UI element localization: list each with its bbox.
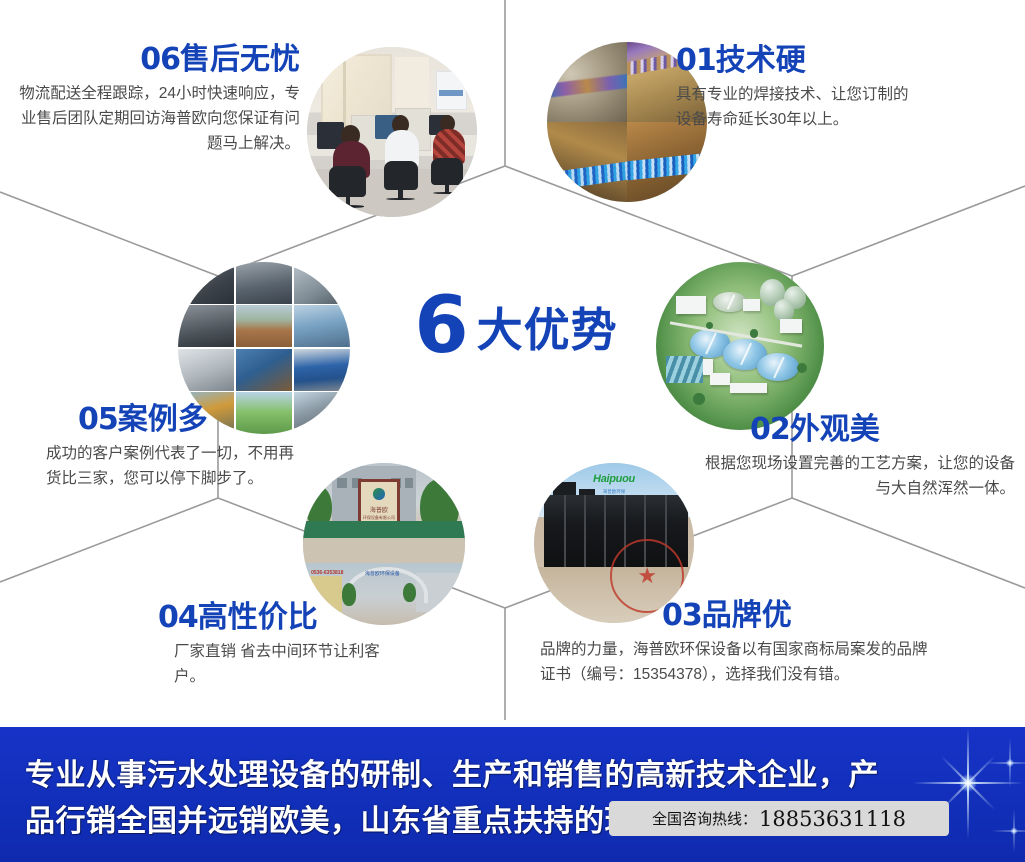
feature-05-heading: 05案例多 — [38, 404, 338, 436]
factory-sign-line1: 海普欧 — [361, 505, 397, 514]
feature-01-body: 具有专业的焊接技术、让您订制的设备寿命延长30年以上。 — [676, 82, 921, 132]
hex-spoke-lower-left — [0, 498, 218, 582]
infographic-root: 06售后无忧 物流配送全程跟踪，24小时快速响应，专业售后团队定期回访海普欧向您… — [0, 0, 1025, 862]
feature-02-body: 根据您现场设置完善的工艺方案，让您的设备与大自然浑然一体。 — [700, 451, 1015, 501]
hex-spoke-lower-right — [792, 498, 1025, 588]
feature-06-body: 物流配送全程跟踪，24小时快速响应，专业售后团队定期回访海普欧向您保证有问题马上… — [10, 81, 300, 156]
feature-05: 05案例多 成功的客户案例代表了一切，不用再货比三家，您可以停下脚步了。 — [38, 404, 338, 491]
photo-watermark: Haipuou — [593, 473, 635, 485]
feature-02-heading: 02外观美 — [700, 414, 1015, 446]
feature-03-heading: 03品牌优 — [540, 600, 940, 632]
feature-02: 02外观美 根据您现场设置完善的工艺方案，让您的设备与大自然浑然一体。 — [700, 414, 1015, 501]
center-number: 6 — [414, 293, 466, 360]
feature-photo-06 — [307, 47, 477, 217]
feature-01: 01技术硬 具有专业的焊接技术、让您订制的设备寿命延长30年以上。 — [676, 45, 996, 132]
center-text: 大优势 — [477, 294, 618, 360]
hotline-box[interactable]: 全国咨询热线：18853631118 — [609, 801, 949, 836]
feature-04-title: 高性价比 — [198, 601, 318, 634]
aerial-treatment-plant-photo — [656, 262, 824, 430]
feature-03: 03品牌优 品牌的力量，海普欧环保设备以有国家商标局案发的品牌证书（编号：153… — [540, 600, 940, 687]
feature-03-number: 03 — [662, 598, 702, 633]
factory-phone: 0536-6353818 — [311, 570, 343, 576]
photo-watermark-sub: 海普欧环保 — [603, 489, 626, 495]
feature-06: 06售后无忧 物流配送全程跟踪，24小时快速响应，专业售后团队定期回访海普欧向您… — [10, 44, 300, 156]
feature-04-heading: 04高性价比 — [130, 602, 460, 634]
feature-01-number: 01 — [676, 43, 716, 78]
gate-banner-text: 海普欧环保设备 — [348, 570, 416, 577]
feature-06-heading: 06售后无忧 — [10, 44, 300, 76]
hex-spoke-upper-right — [792, 186, 1025, 276]
feature-02-title: 外观美 — [790, 413, 880, 446]
feature-06-title: 售后无忧 — [180, 43, 300, 76]
hotline-label: 全国咨询热线： — [652, 808, 757, 829]
feature-06-number: 06 — [140, 42, 180, 77]
feature-05-number: 05 — [78, 402, 118, 437]
feature-03-body: 品牌的力量，海普欧环保设备以有国家商标局案发的品牌证书（编号：15354378）… — [540, 637, 940, 687]
feature-01-title: 技术硬 — [716, 44, 806, 77]
feature-01-heading: 01技术硬 — [676, 45, 996, 77]
center-label: 6 大优势 — [376, 284, 656, 370]
feature-05-title: 案例多 — [118, 403, 208, 436]
feature-04-body: 厂家直销 省去中间环节让利客户。 — [130, 639, 404, 689]
office-team-photo — [307, 47, 477, 217]
feature-04: 04高性价比 厂家直销 省去中间环节让利客户。 — [130, 602, 460, 689]
feature-05-body: 成功的客户案例代表了一切，不用再货比三家，您可以停下脚步了。 — [38, 441, 298, 491]
feature-02-number: 02 — [750, 412, 790, 447]
feature-04-number: 04 — [158, 600, 198, 635]
feature-photo-02 — [656, 262, 824, 430]
bottom-banner: 专业从事污水处理设备的研制、生产和销售的高新技术企业，产品行销全国并远销欧美，山… — [0, 727, 1025, 862]
feature-03-title: 品牌优 — [702, 599, 792, 632]
hotline-number: 18853631118 — [759, 807, 906, 831]
